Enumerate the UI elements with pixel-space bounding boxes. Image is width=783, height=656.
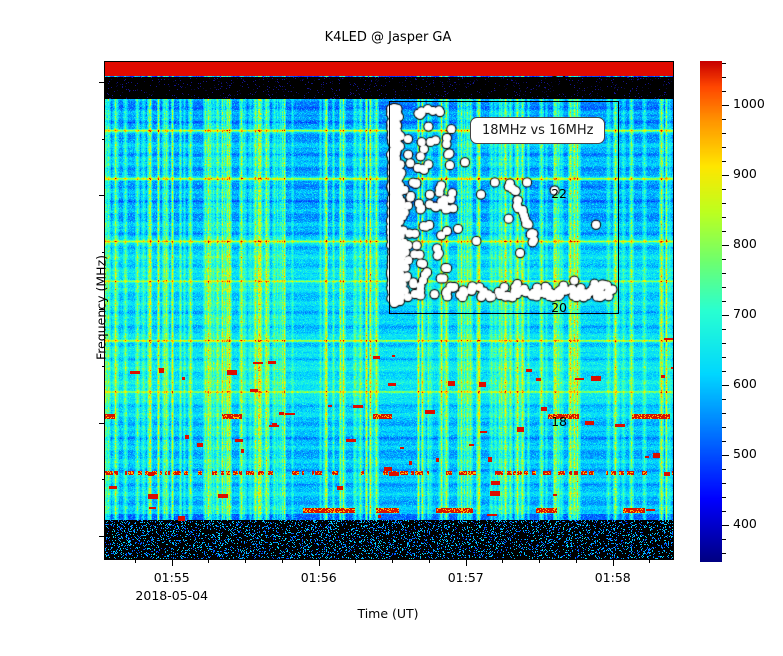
colorbar-tick-minor [722,189,726,190]
colorbar-tick-major [722,315,729,316]
colorbar-tick-minor [722,77,726,78]
x-tick-minor [282,559,283,563]
colorbar-tick-minor [722,441,726,442]
colorbar[interactable]: 4005006007008009001000 [700,61,722,562]
y-tick-label: 24 [551,73,567,88]
colorbar-tick-minor [722,301,726,302]
colorbar-gradient [700,61,722,562]
x-tick-major [172,559,173,566]
colorbar-tick-major [722,245,729,246]
x-tick-major [613,559,614,566]
plot-area[interactable]: 18MHz vs 16MHz 1618202224 01:552018-05-0… [104,61,674,560]
x-tick-label: 01:57 [421,570,511,585]
colorbar-tick-major [722,105,729,106]
colorbar-tick-minor [722,539,726,540]
colorbar-tick-minor [722,497,726,498]
colorbar-tick-minor [722,231,726,232]
x-tick-minor [539,559,540,563]
colorbar-tick-minor [722,469,726,470]
colorbar-tick-major [722,175,729,176]
x-tick-label: 01:55 [127,570,217,585]
colorbar-tick-minor [722,217,726,218]
colorbar-tick-minor [722,259,726,260]
x-tick-minor [429,559,430,563]
x-axis-label: Time (UT) [104,606,672,621]
colorbar-tick-major [722,525,729,526]
colorbar-tick-minor [722,287,726,288]
y-tick-label: 16 [551,527,567,542]
colorbar-tick-minor [722,427,726,428]
colorbar-tick-minor [722,147,726,148]
x-tick-minor [245,559,246,563]
colorbar-tick-minor [722,511,726,512]
colorbar-tick-minor [722,357,726,358]
colorbar-tick-label: 800 [733,236,757,251]
x-tick-minor [649,559,650,563]
colorbar-tick-minor [722,91,726,92]
x-tick-major [319,559,320,566]
x-tick-minor [208,559,209,563]
y-axis-label: Frequency (MHz) [94,98,109,518]
colorbar-tick-label: 900 [733,166,757,181]
roi-annotation-label: 18MHz vs 16MHz [470,117,605,144]
y-tick-label: 20 [551,300,567,315]
y-tick-major [99,536,105,537]
x-axis-date-label: 2018-05-04 [102,588,242,603]
colorbar-tick-major [722,455,729,456]
x-tick-minor [502,559,503,563]
colorbar-tick-label: 400 [733,516,757,531]
colorbar-tick-label: 500 [733,446,757,461]
y-tick-label: 18 [551,414,567,429]
x-tick-label: 01:56 [274,570,364,585]
x-tick-label: 01:58 [568,570,658,585]
colorbar-tick-minor [722,63,726,64]
x-tick-minor [576,559,577,563]
colorbar-tick-minor [722,133,726,134]
colorbar-tick-minor [722,399,726,400]
colorbar-tick-label: 700 [733,306,757,321]
x-tick-minor [135,559,136,563]
colorbar-tick-minor [722,161,726,162]
colorbar-tick-minor [722,343,726,344]
colorbar-tick-minor [722,203,726,204]
x-tick-major [466,559,467,566]
colorbar-tick-major [722,385,729,386]
x-tick-minor [392,559,393,563]
colorbar-tick-label: 600 [733,376,757,391]
colorbar-tick-minor [722,413,726,414]
y-tick-label: 22 [551,186,567,201]
colorbar-tick-label: 1000 [733,96,765,111]
figure-canvas: K4LED @ Jasper GA 18MHz vs 16MHz 1618202… [0,0,783,656]
colorbar-tick-minor [722,329,726,330]
chart-title: K4LED @ Jasper GA [104,30,672,45]
colorbar-tick-minor [722,273,726,274]
colorbar-tick-minor [722,371,726,372]
colorbar-tick-minor [722,553,726,554]
y-tick-major [99,82,105,83]
x-tick-minor [355,559,356,563]
colorbar-tick-minor [722,119,726,120]
colorbar-tick-minor [722,483,726,484]
